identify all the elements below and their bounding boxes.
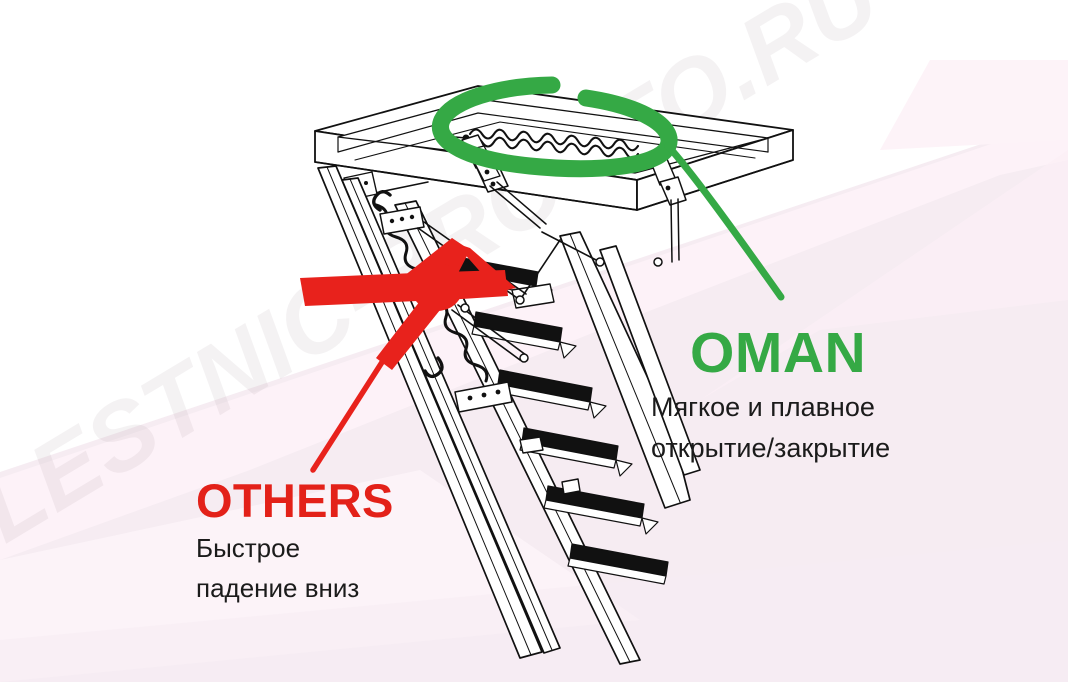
others-line-2: падение вниз <box>196 575 359 601</box>
others-heading: OTHERS <box>196 477 394 524</box>
oman-line-2: открытие/закрытие <box>651 435 890 462</box>
red-highlight-arrow <box>0 0 1068 682</box>
oman-heading: OMAN <box>690 325 866 382</box>
others-line-1: Быстрое <box>196 535 300 561</box>
oman-line-1: Мягкое и плавное <box>651 394 875 421</box>
infographic-canvas: LESTNIC-PROSTO.RU <box>0 0 1068 682</box>
